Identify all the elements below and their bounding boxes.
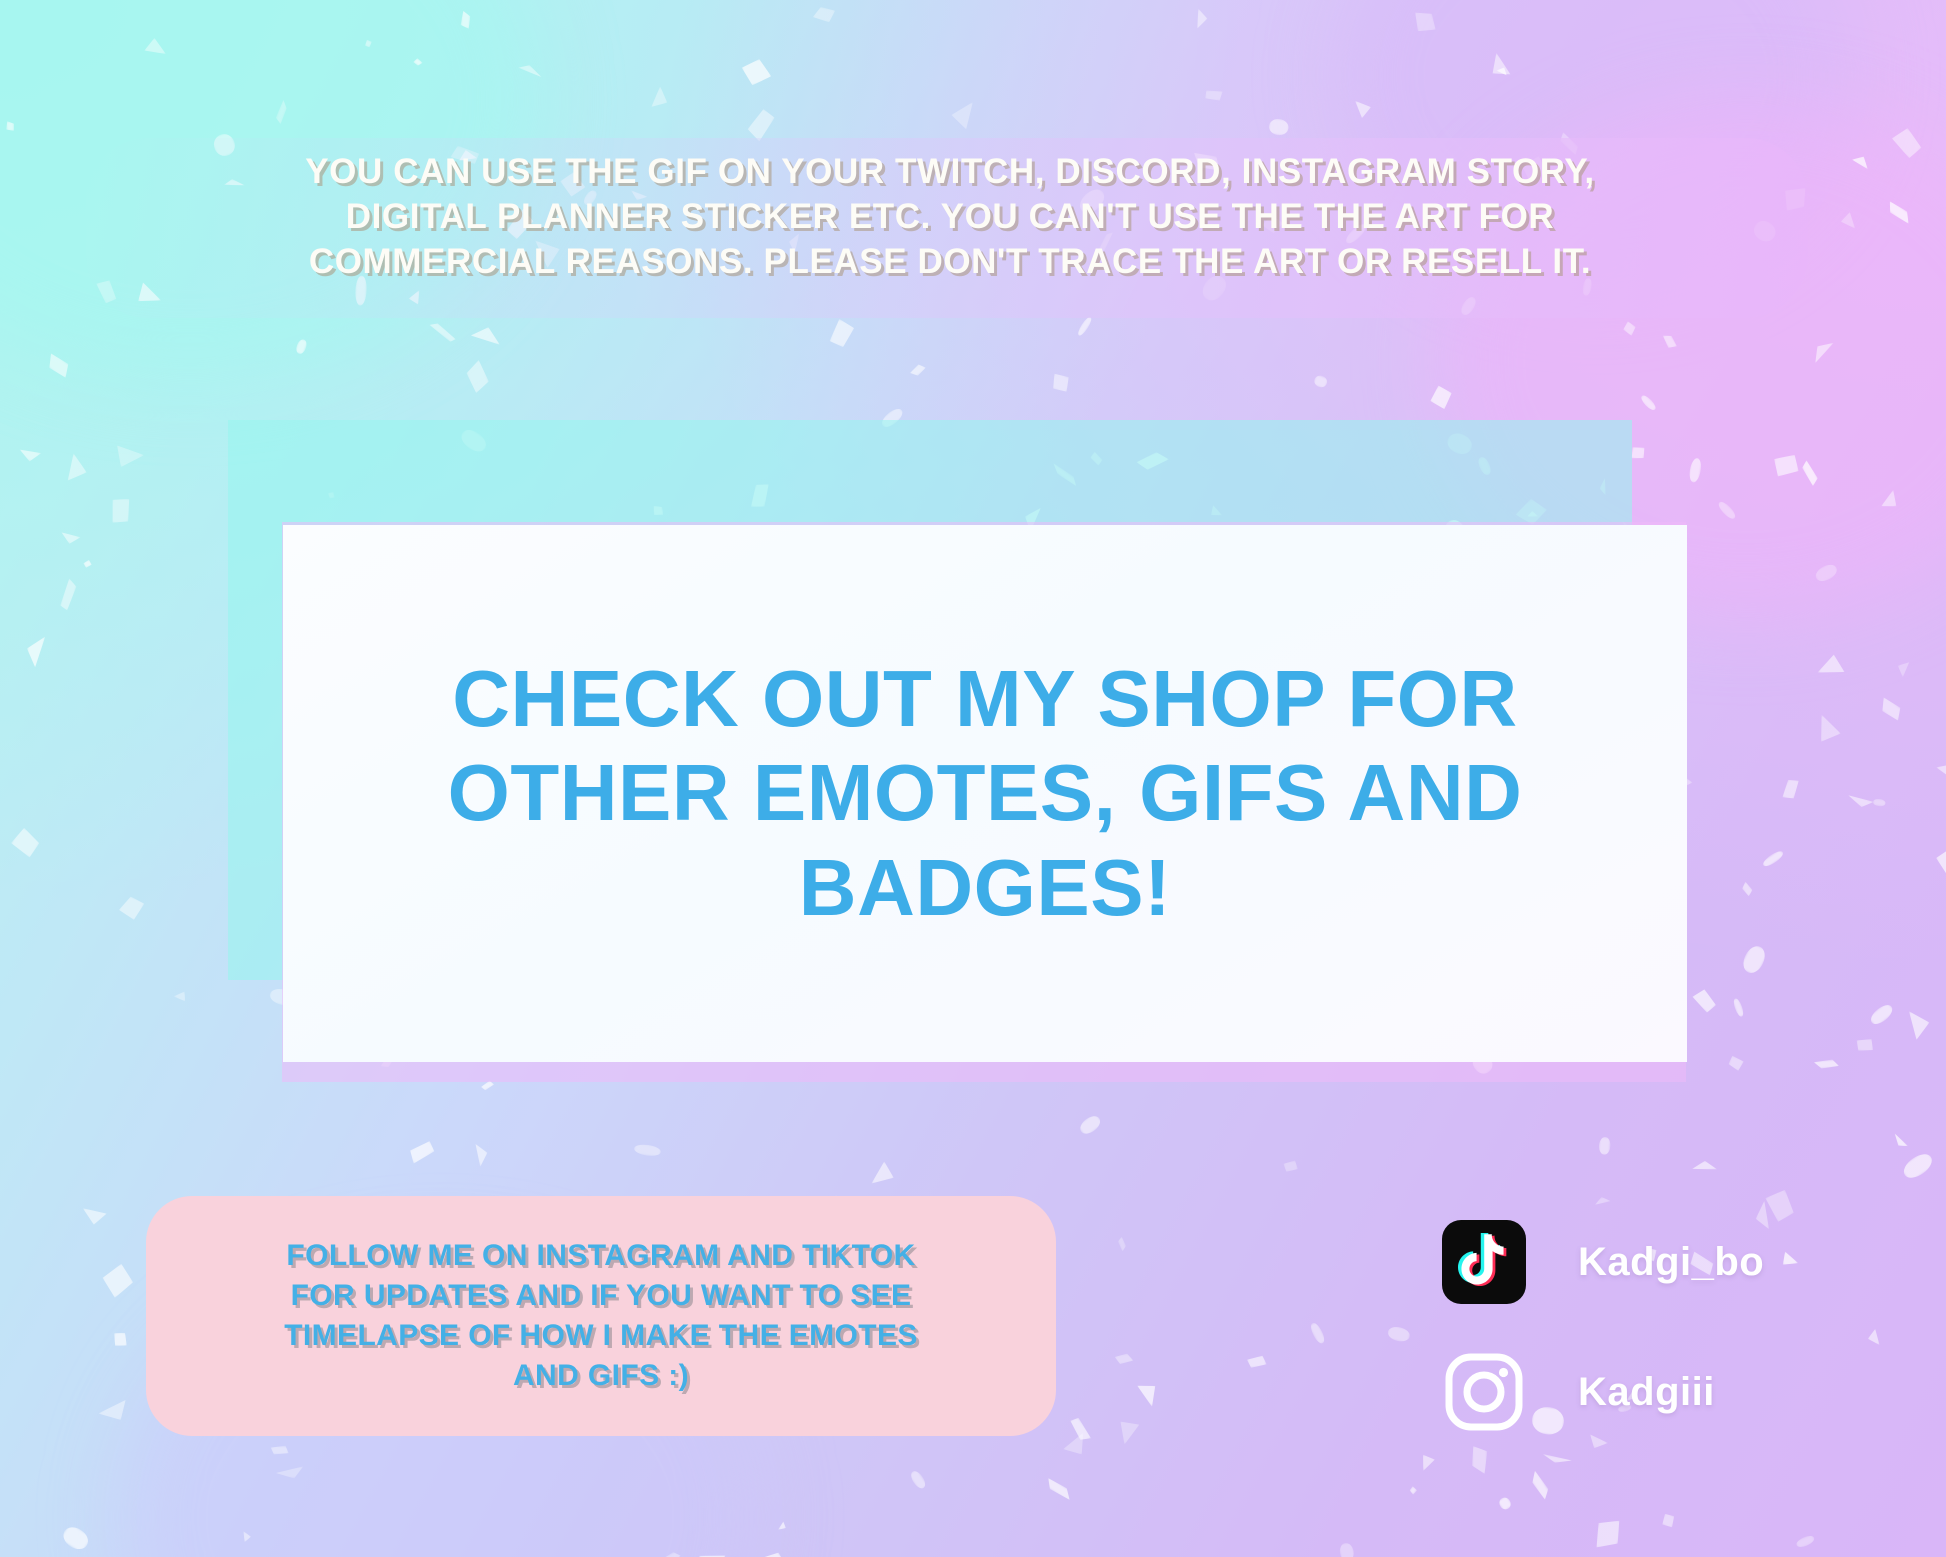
usage-notice-text: YOU CAN USE THE GIF ON YOUR TWITCH, DISC…: [150, 150, 1750, 284]
follow-callout-box: FOLLOW ME ON INSTAGRAM AND TIKTOK FOR UP…: [146, 1196, 1056, 1436]
instagram-handle[interactable]: Kadgiii: [1578, 1370, 1715, 1415]
instagram-icon[interactable]: [1442, 1350, 1526, 1434]
social-row-tiktok[interactable]: Kadgi_bo: [1442, 1216, 1872, 1308]
tiktok-icon[interactable]: [1442, 1220, 1526, 1304]
social-links: Kadgi_bo Kadgiii: [1442, 1216, 1872, 1476]
tiktok-tile: [1442, 1220, 1526, 1304]
tiktok-note-glyph: [1458, 1233, 1510, 1291]
tiktok-handle[interactable]: Kadgi_bo: [1578, 1240, 1764, 1285]
shop-card: CHECK OUT MY SHOP FOR OTHER EMOTES, GIFS…: [283, 525, 1687, 1062]
poster-canvas: YOU CAN USE THE GIF ON YOUR TWITCH, DISC…: [0, 0, 1946, 1557]
social-row-instagram[interactable]: Kadgiii: [1442, 1346, 1872, 1438]
shop-heading: CHECK OUT MY SHOP FOR OTHER EMOTES, GIFS…: [370, 652, 1600, 935]
follow-callout-text: FOLLOW ME ON INSTAGRAM AND TIKTOK FOR UP…: [206, 1236, 996, 1396]
instagram-glyph: [1442, 1350, 1526, 1434]
